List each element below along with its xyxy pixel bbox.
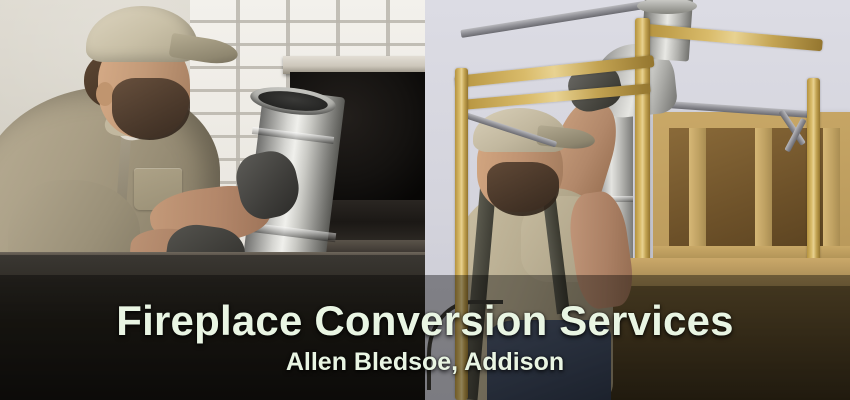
chase-stud [823, 128, 840, 248]
worker-beard [487, 162, 559, 216]
service-banner: Fireplace Conversion Services Allen Bled… [0, 0, 850, 400]
scaffold-post [807, 78, 820, 288]
banner-headline: Fireplace Conversion Services [116, 300, 733, 342]
chase-stud [689, 128, 706, 248]
banner-subheadline: Allen Bledsoe, Addison [286, 350, 564, 375]
chase-stud [755, 128, 772, 248]
caption-text-block: Fireplace Conversion Services Allen Bled… [0, 275, 850, 400]
